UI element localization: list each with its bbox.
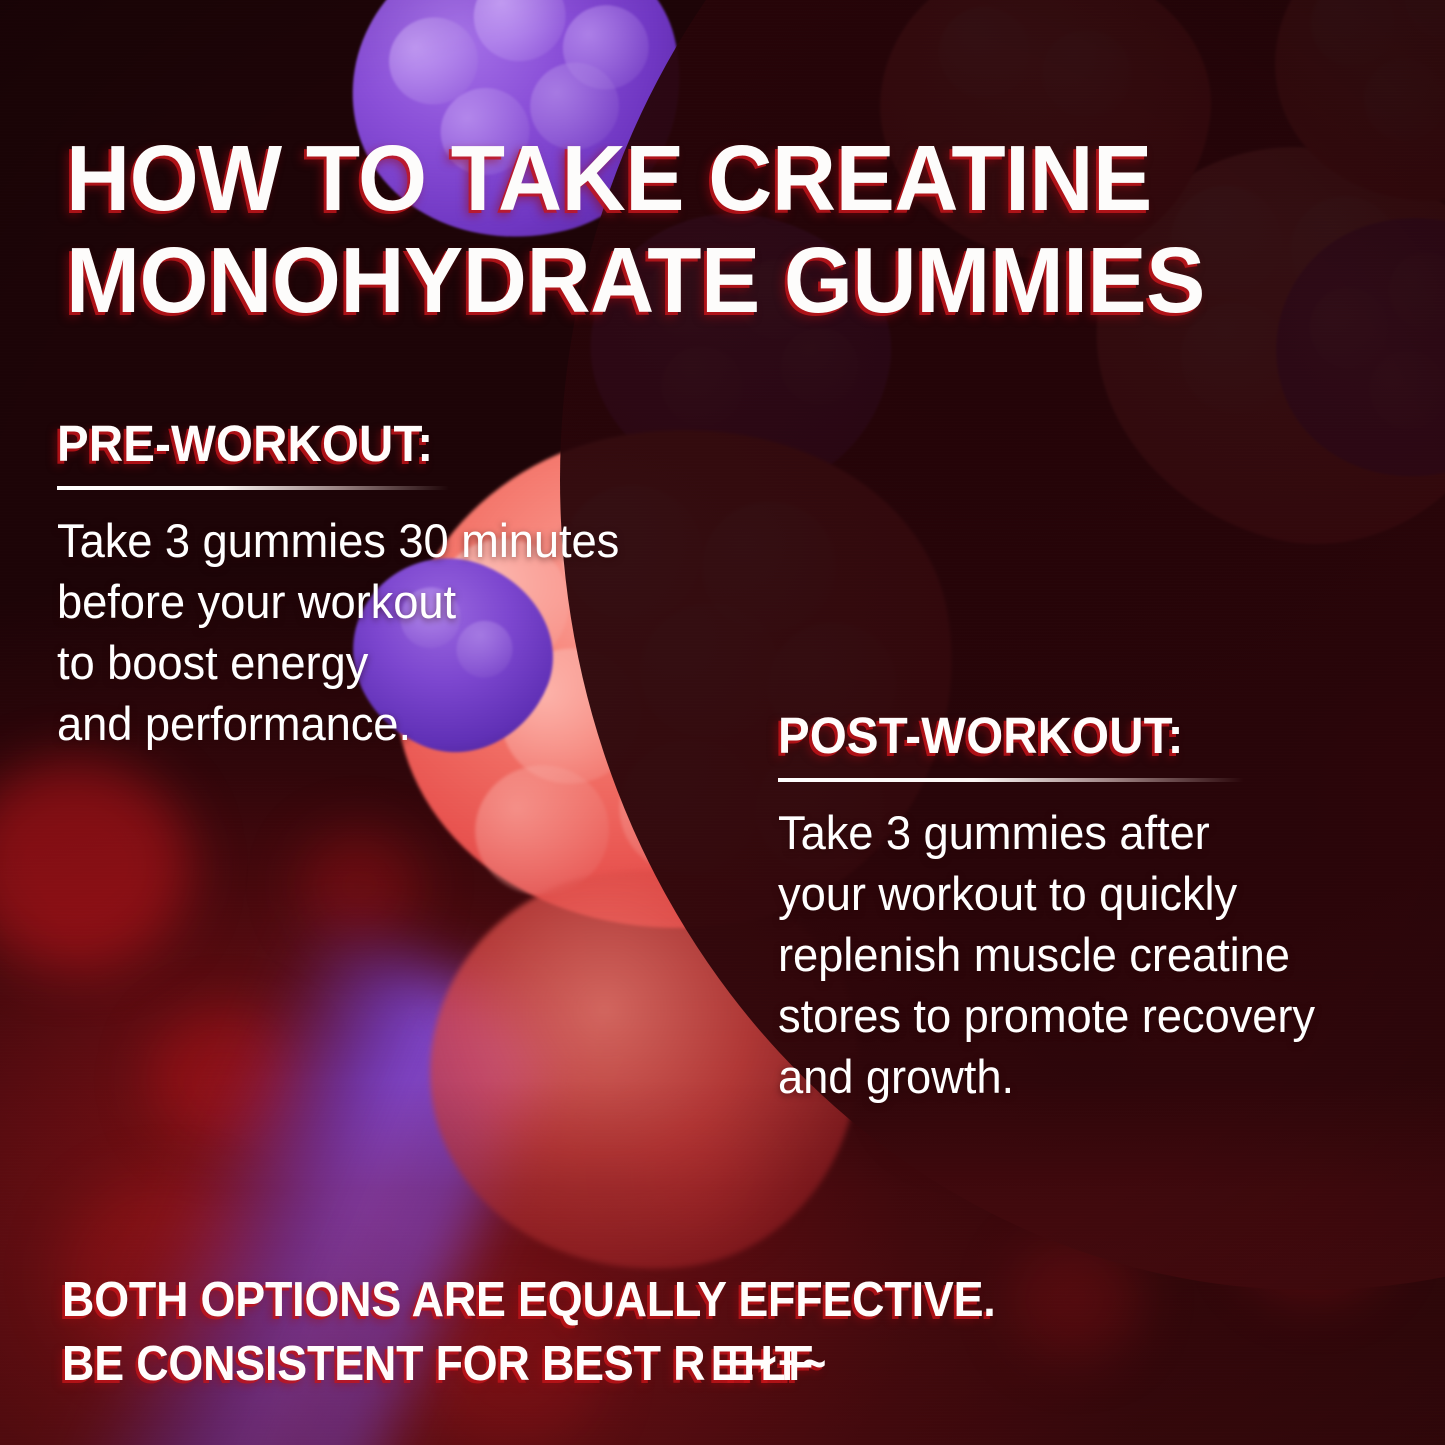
heading-underline-pre-workout <box>57 486 449 490</box>
body-line: Take 3 gummies after <box>778 802 1415 863</box>
body-line: and performance. <box>57 693 733 754</box>
infographic-poster: HOW TO TAKE CREATINE MONOHYDRATE GUMMIES… <box>0 0 1445 1445</box>
title-line-1: HOW TO TAKE CREATINE <box>66 128 1241 229</box>
body-line: and growth. <box>778 1046 1415 1107</box>
body-line: your workout to quickly <box>778 863 1415 924</box>
title-line-2: MONOHYDRATE GUMMIES <box>66 230 1241 331</box>
body-line: replenish muscle creatine <box>778 924 1415 985</box>
heading-underline-post-workout <box>778 778 1244 782</box>
section-body-pre-workout: Take 3 gummies 30 minutes before your wo… <box>57 510 733 754</box>
body-line: to boost energy <box>57 632 733 693</box>
body-line: stores to promote recovery <box>778 985 1415 1046</box>
footer-line-2: BE CONSISTENT FOR BEST REEH'ŁŦF~ <box>62 1332 1270 1396</box>
poster-content: HOW TO TAKE CREATINE MONOHYDRATE GUMMIES… <box>0 0 1445 1445</box>
footer-line-1: BOTH OPTIONS ARE EQUALLY EFFECTIVE. <box>62 1268 1270 1332</box>
section-heading-post-workout: POST-WORKOUT: <box>778 710 1392 761</box>
section-body-post-workout: Take 3 gummies after your workout to qui… <box>778 802 1415 1107</box>
garbled-glyph-run: EEH'ŁŦF~ <box>711 1332 815 1396</box>
section-pre-workout: PRE-WORKOUT: Take 3 gummies 30 minutes b… <box>57 418 757 754</box>
section-heading-pre-workout: PRE-WORKOUT: <box>57 418 708 469</box>
footer-line-2-text: BE CONSISTENT FOR BEST R <box>62 1337 705 1391</box>
page-title: HOW TO TAKE CREATINE MONOHYDRATE GUMMIES <box>66 128 1241 331</box>
body-line: before your workout <box>57 571 733 632</box>
footer-tagline: BOTH OPTIONS ARE EQUALLY EFFECTIVE. BE C… <box>62 1268 1270 1396</box>
body-line: Take 3 gummies 30 minutes <box>57 510 733 571</box>
section-post-workout: POST-WORKOUT: Take 3 gummies after your … <box>778 710 1438 1107</box>
